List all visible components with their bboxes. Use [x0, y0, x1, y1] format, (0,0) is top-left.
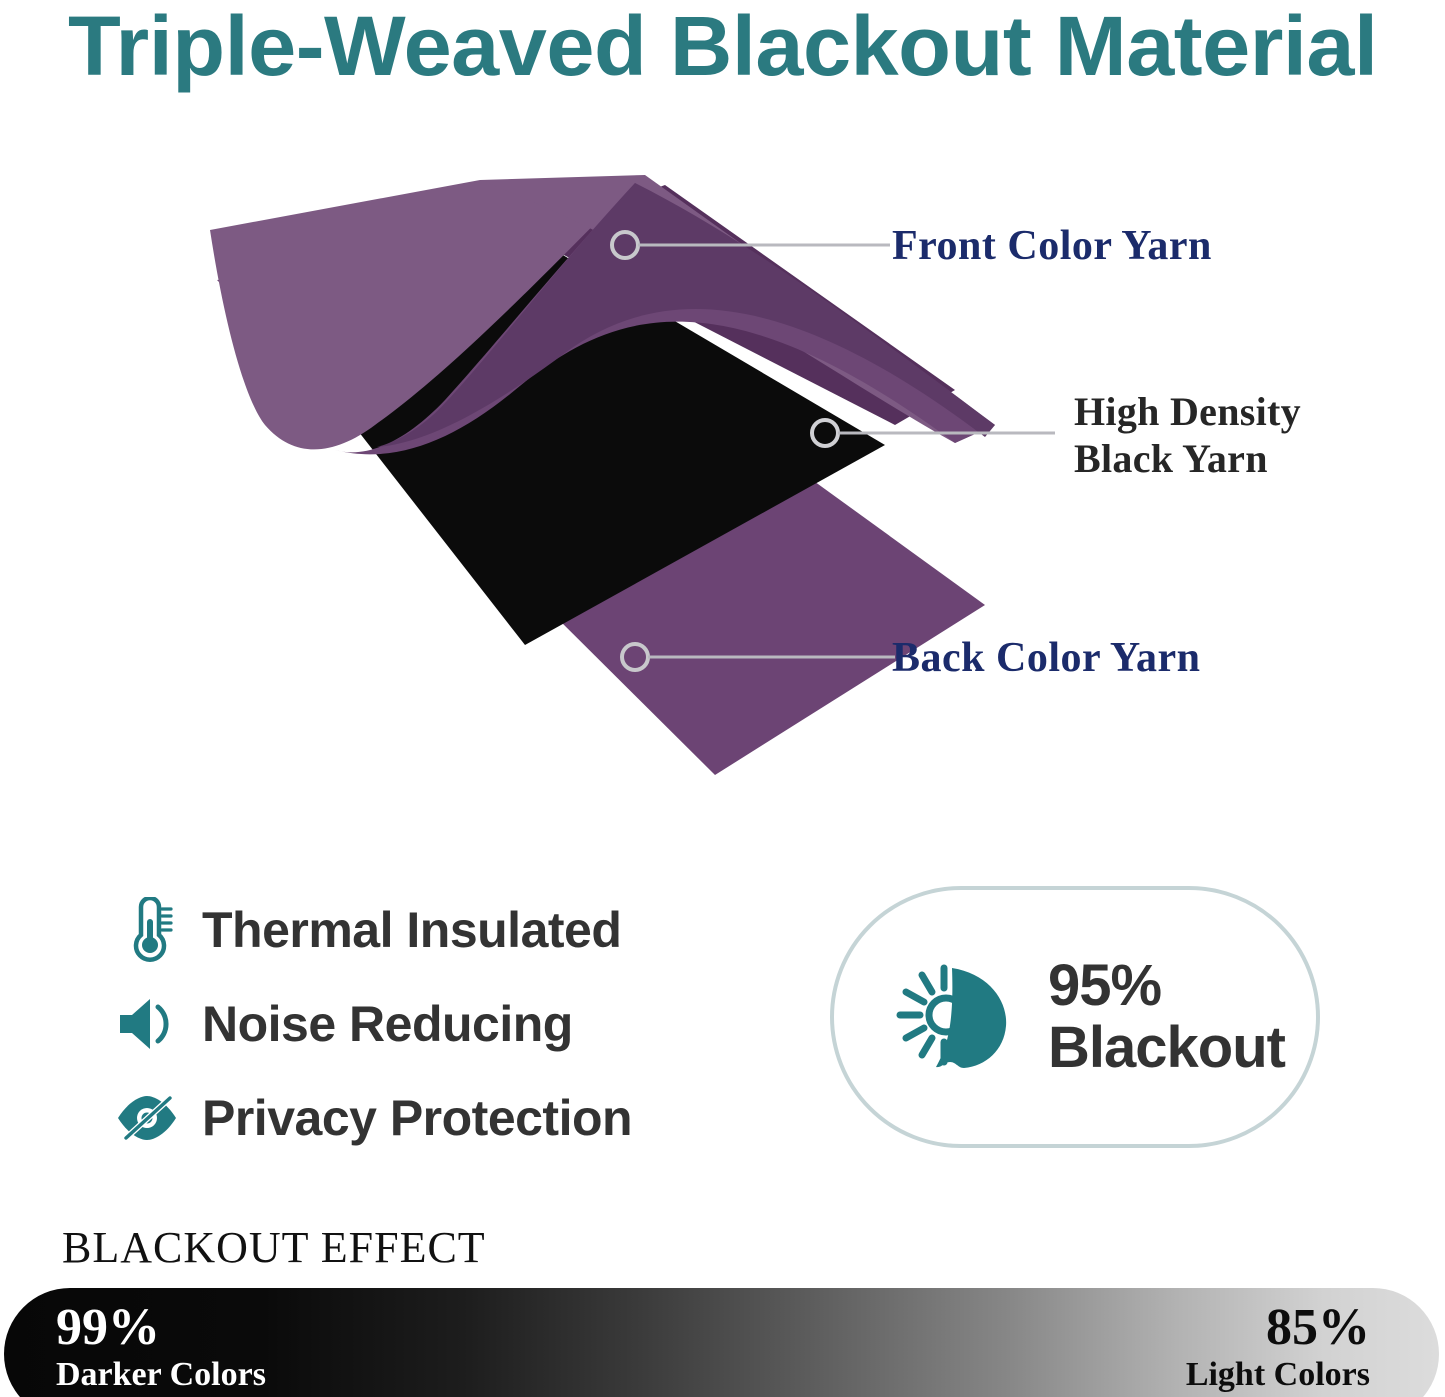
- badge-percent: 95%: [1048, 955, 1285, 1017]
- blackout-effect-heading: BLACKOUT EFFECT: [62, 1222, 486, 1273]
- badge-word: Blackout: [1048, 1017, 1285, 1079]
- blackout-effect-left-caption: Darker Colors: [56, 1356, 266, 1394]
- callout-label-black-yarn-line1: High Density: [1074, 388, 1301, 435]
- feature-item-thermal: Thermal Insulated: [108, 883, 748, 977]
- page-title: Triple-Weaved Blackout Material: [68, 0, 1445, 98]
- callout-label-front-color-yarn: Front Color Yarn: [892, 222, 1212, 270]
- thermometer-icon: [108, 897, 186, 963]
- blackout-effect-right-caption: Light Colors: [1186, 1356, 1370, 1394]
- callout-label-black-yarn-line2: Black Yarn: [1074, 435, 1301, 482]
- feature-list: Thermal Insulated Noise Reducing: [108, 883, 748, 1165]
- feature-label-noise: Noise Reducing: [202, 995, 573, 1053]
- sun-blocked-icon: [834, 950, 1048, 1085]
- feature-label-thermal: Thermal Insulated: [202, 901, 621, 959]
- blackout-effect-right: 85% Light Colors: [1186, 1300, 1370, 1394]
- blackout-effect-left: 99% Darker Colors: [56, 1300, 266, 1394]
- callout-label-black-yarn: High Density Black Yarn: [1074, 388, 1301, 482]
- infographic-page: Triple-Weaved Blackout Material: [0, 0, 1445, 1397]
- eye-slash-icon: [108, 1085, 186, 1151]
- badge-text: 95% Blackout: [1048, 955, 1285, 1079]
- feature-label-privacy: Privacy Protection: [202, 1089, 632, 1147]
- blackout-effect-left-percent: 99%: [56, 1300, 266, 1356]
- blackout-effect-right-percent: 85%: [1186, 1300, 1370, 1356]
- speaker-sound-icon: [108, 991, 186, 1057]
- callout-label-back-color-yarn: Back Color Yarn: [892, 634, 1201, 682]
- feature-item-privacy: Privacy Protection: [108, 1071, 748, 1165]
- feature-item-noise: Noise Reducing: [108, 977, 748, 1071]
- blackout-badge: 95% Blackout: [830, 886, 1320, 1148]
